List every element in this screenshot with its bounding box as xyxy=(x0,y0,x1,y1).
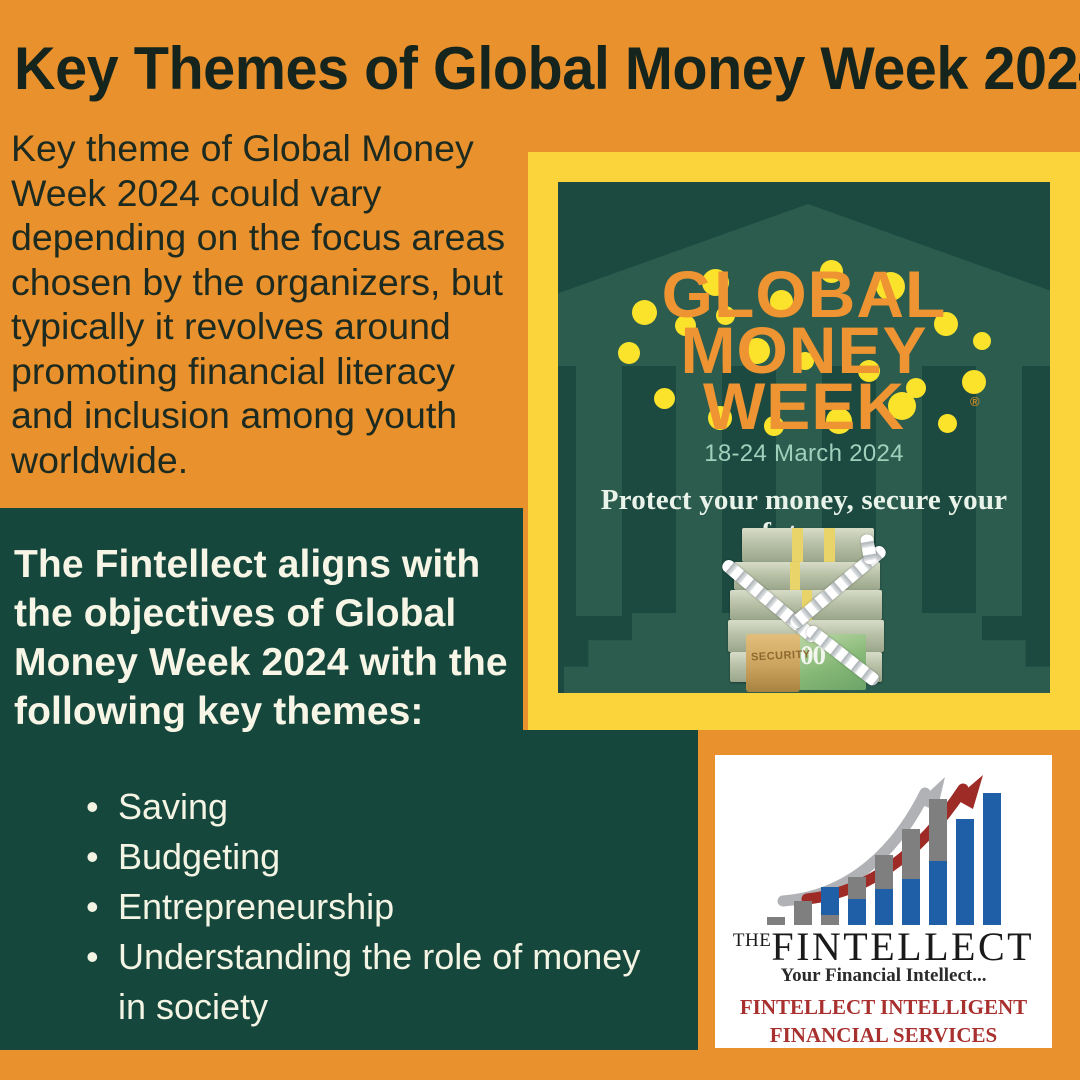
padlock-icon: SECURITY xyxy=(746,634,800,692)
theme-label: Saving xyxy=(118,786,228,827)
banknote-band xyxy=(824,528,835,562)
fintellect-logo-card: THEFINTELLECT Your Financial Intellect..… xyxy=(715,755,1052,1048)
logo-wordmark: THEFINTELLECT xyxy=(715,923,1052,970)
chart-bar xyxy=(983,793,1001,925)
logo-tagline: Your Financial Intellect... xyxy=(715,965,1052,987)
list-item: • Saving xyxy=(78,782,678,832)
logo-subtitle: FINTELLECT INTELLIGENT FINANCIAL SERVICE… xyxy=(715,993,1052,1049)
chart-bar xyxy=(902,829,920,925)
chart-bar xyxy=(848,877,866,925)
chart-bar xyxy=(956,819,974,925)
page-title: Key Themes of Global Money Week 2024 xyxy=(14,36,1027,102)
bullet-icon: • xyxy=(86,882,99,932)
theme-label: Understanding the role of money in socie… xyxy=(118,936,640,1027)
bullet-icon: • xyxy=(86,932,99,982)
logo-subtitle-line-2: FINANCIAL SERVICES xyxy=(715,1021,1052,1049)
theme-label: Entrepreneurship xyxy=(118,886,394,927)
chart-bar xyxy=(821,887,839,925)
panel-heading: The Fintellect aligns with the objective… xyxy=(14,540,514,736)
chart-bar xyxy=(794,901,812,925)
gmw-wordmark: GLOBAL MONEY WEEK xyxy=(604,266,1004,434)
logo-fintellect: FINTELLECT xyxy=(771,924,1034,969)
wordmark-line-week: WEEK xyxy=(604,378,1004,434)
intro-paragraph: Key theme of Global Money Week 2024 coul… xyxy=(11,126,511,482)
list-item: • Understanding the role of money in soc… xyxy=(78,932,678,1032)
banknote-stack xyxy=(742,528,874,562)
bullet-icon: • xyxy=(86,832,99,882)
chart-bar xyxy=(875,855,893,925)
theme-label: Budgeting xyxy=(118,836,280,877)
list-item: • Entrepreneurship xyxy=(78,882,678,932)
event-dates: 18-24 March 2024 xyxy=(604,440,1004,468)
theme-list: • Saving • Budgeting • Entrepreneurship … xyxy=(78,782,678,1032)
chained-money-artwork: 00 SECURITY xyxy=(708,522,923,693)
growth-bar-chart xyxy=(767,773,1015,925)
banknote-band xyxy=(790,562,800,590)
logo-the: THE xyxy=(733,930,771,951)
bullet-icon: • xyxy=(86,782,99,832)
registered-trademark-icon: ® xyxy=(970,394,980,409)
infographic-poster: Key Themes of Global Money Week 2024 Key… xyxy=(0,0,1080,1080)
banknote-band xyxy=(792,528,803,562)
logo-subtitle-line-1: FINTELLECT INTELLIGENT xyxy=(715,993,1052,1021)
chart-bar xyxy=(929,799,947,925)
global-money-week-poster: GLOBAL MONEY WEEK ® 18-24 March 2024 Pro… xyxy=(558,182,1050,693)
list-item: • Budgeting xyxy=(78,832,678,882)
